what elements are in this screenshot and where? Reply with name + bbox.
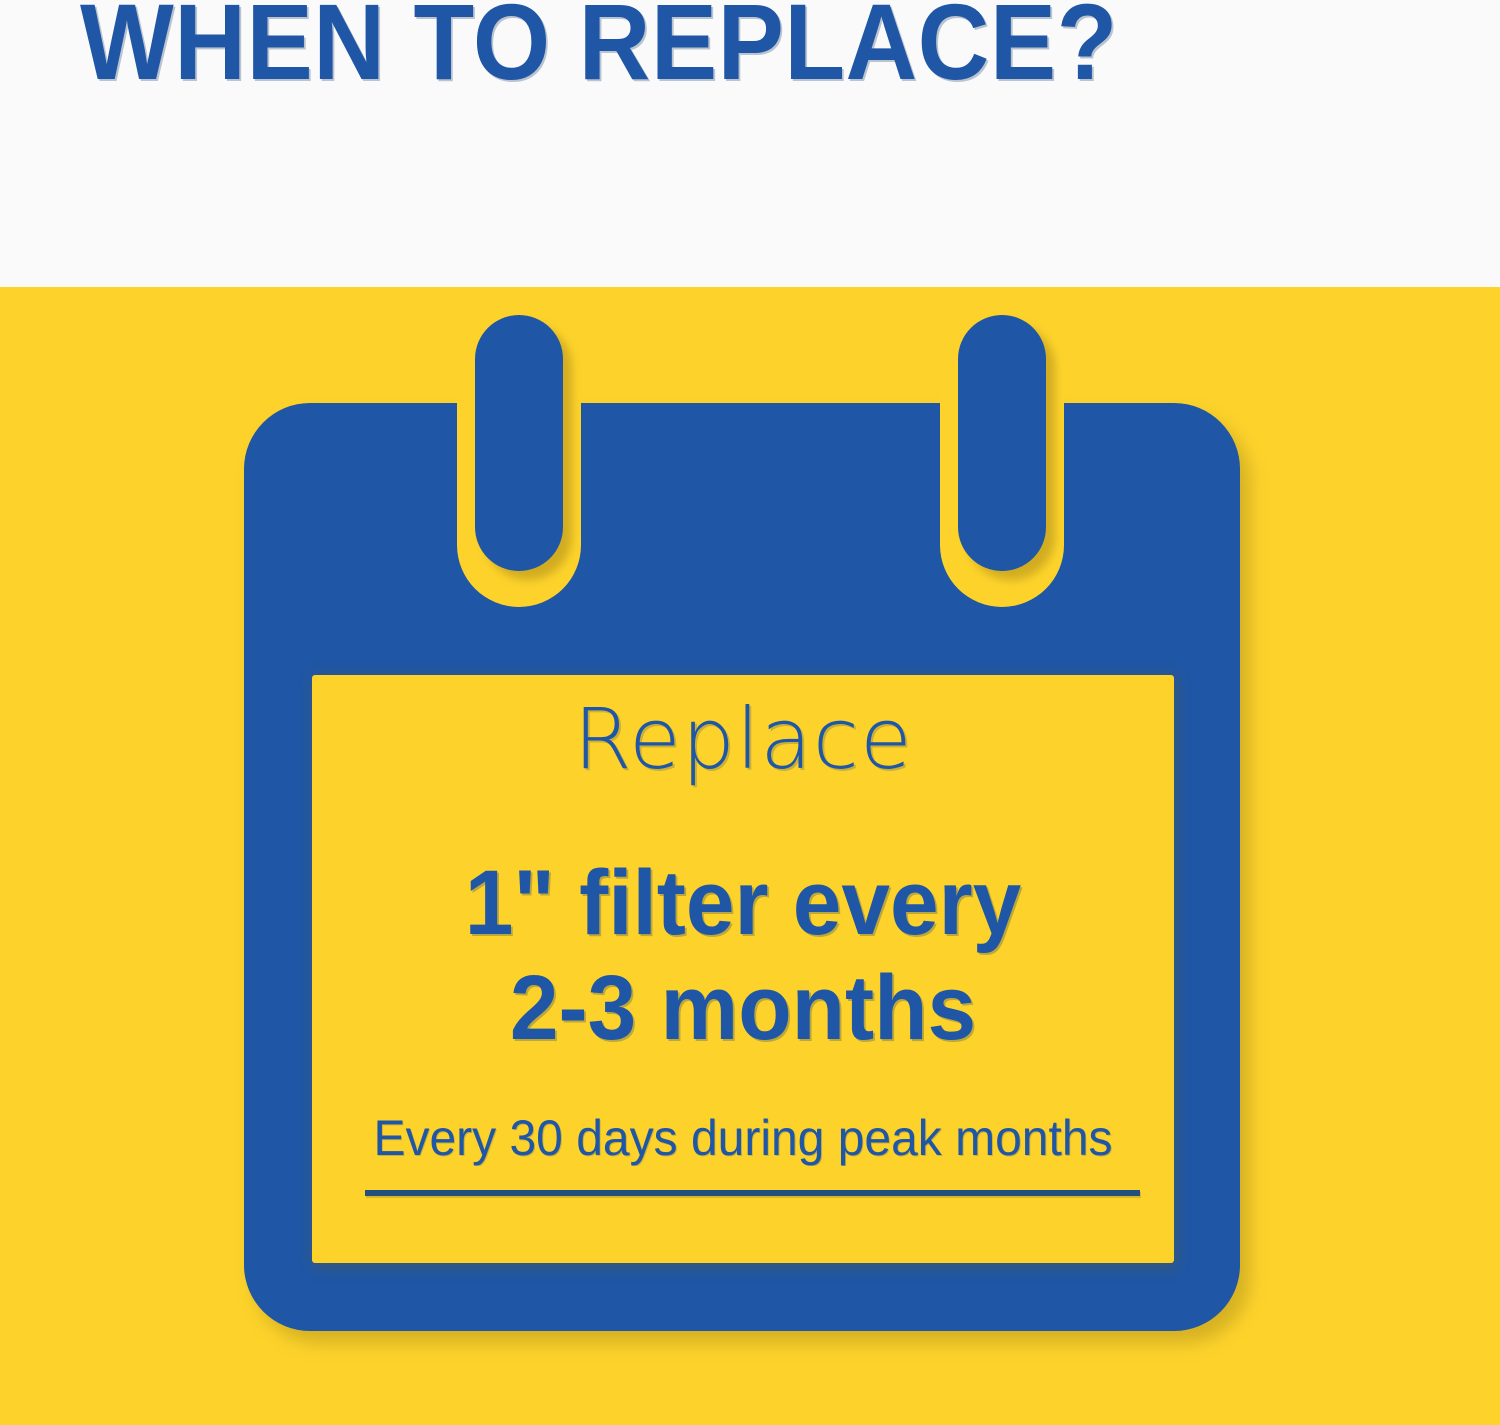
replace-interval-line-2: 2-3 months bbox=[334, 956, 1153, 1061]
calendar-ring-left-pin bbox=[475, 315, 563, 571]
yellow-content-panel: Replace 1" filter every 2-3 months Every… bbox=[0, 287, 1500, 1425]
calendar-ring-left bbox=[457, 315, 581, 607]
peak-months-note: Every 30 days during peak months bbox=[329, 1113, 1157, 1163]
replace-interval: 1" filter every 2-3 months bbox=[334, 851, 1153, 1061]
header-band: WHEN TO REPLACE? bbox=[0, 0, 1500, 287]
replace-label: Replace bbox=[312, 697, 1174, 781]
calendar-ring-right bbox=[940, 315, 1064, 607]
calendar-icon: Replace 1" filter every 2-3 months Every… bbox=[244, 403, 1240, 1425]
replace-interval-line-1: 1" filter every bbox=[334, 851, 1153, 956]
calendar-page: Replace 1" filter every 2-3 months Every… bbox=[312, 675, 1174, 1263]
calendar-ring-right-pin bbox=[958, 315, 1046, 571]
peak-months-note-underline bbox=[365, 1190, 1140, 1196]
page-title: WHEN TO REPLACE? bbox=[80, 0, 1118, 96]
infographic-canvas: WHEN TO REPLACE? Replace 1" filter every… bbox=[0, 0, 1500, 1425]
calendar-page-content: Replace 1" filter every 2-3 months Every… bbox=[312, 675, 1174, 1263]
